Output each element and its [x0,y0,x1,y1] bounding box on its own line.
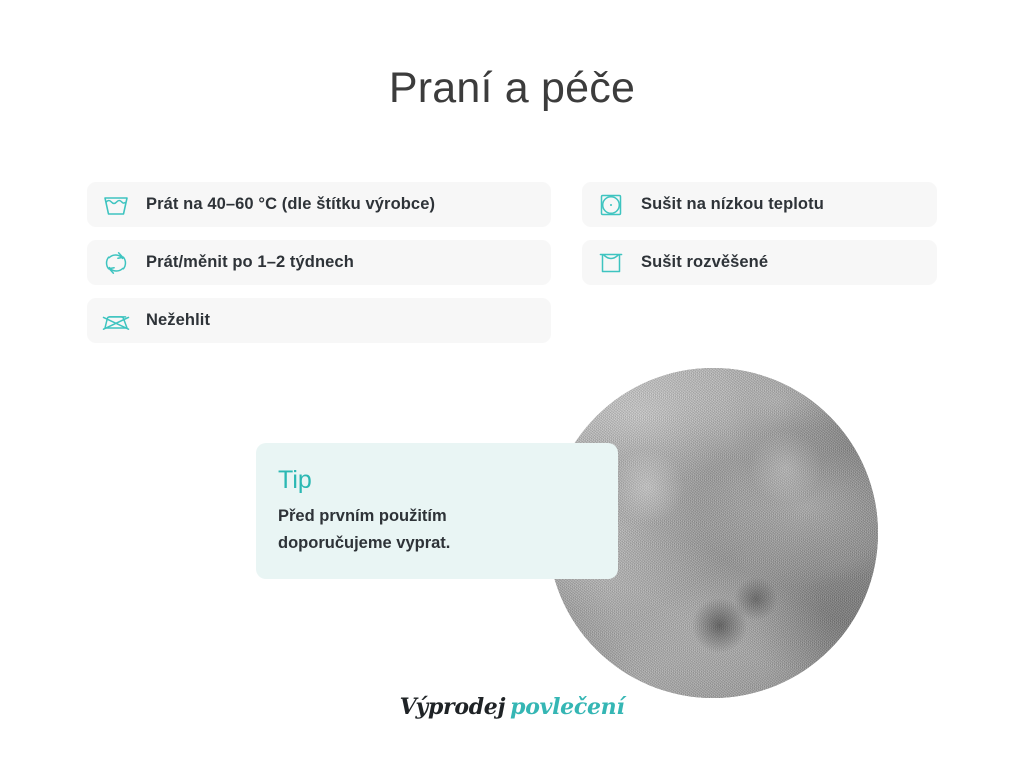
care-instructions-right-column: Sušit na nízkou teplotu Sušit rozvěšené [582,182,937,298]
brand-logo-word-secondary: povlečení [510,694,624,720]
tip-card-title: Tip [278,465,594,495]
care-item-wash-frequency[interactable]: Prát/měnit po 1–2 týdnech [87,240,551,285]
tip-card: Tip Před prvním použitím doporučujeme vy… [256,443,618,579]
care-item-tumble-dry-low[interactable]: Sušit na nízkou teplotu [582,182,937,227]
care-item-label: Sušit na nízkou teplotu [641,195,824,214]
care-item-label: Sušit rozvěšené [641,253,768,272]
care-item-label: Prát/měnit po 1–2 týdnech [146,253,354,272]
wash-tub-icon [101,190,131,220]
tip-card-text: Před prvním použitím doporučujeme vyprat… [278,503,528,557]
brand-logo: Výprodejpovlečení [0,694,1024,720]
care-item-wash-temperature[interactable]: Prát na 40–60 °C (dle štítku výrobce) [87,182,551,227]
tumble-dry-low-icon [596,190,626,220]
care-item-label: Prát na 40–60 °C (dle štítku výrobce) [146,195,435,214]
brand-logo-word-primary: Výprodej [400,694,506,720]
page-title: Praní a péče [0,60,1024,116]
care-instructions-left-column: Prát na 40–60 °C (dle štítku výrobce) Pr… [87,182,551,356]
care-item-label: Nežehlit [146,311,210,330]
line-dry-icon [596,248,626,278]
do-not-iron-icon [101,306,131,336]
care-item-do-not-iron[interactable]: Nežehlit [87,298,551,343]
care-item-line-dry[interactable]: Sušit rozvěšené [582,240,937,285]
refresh-cycle-icon [101,248,131,278]
